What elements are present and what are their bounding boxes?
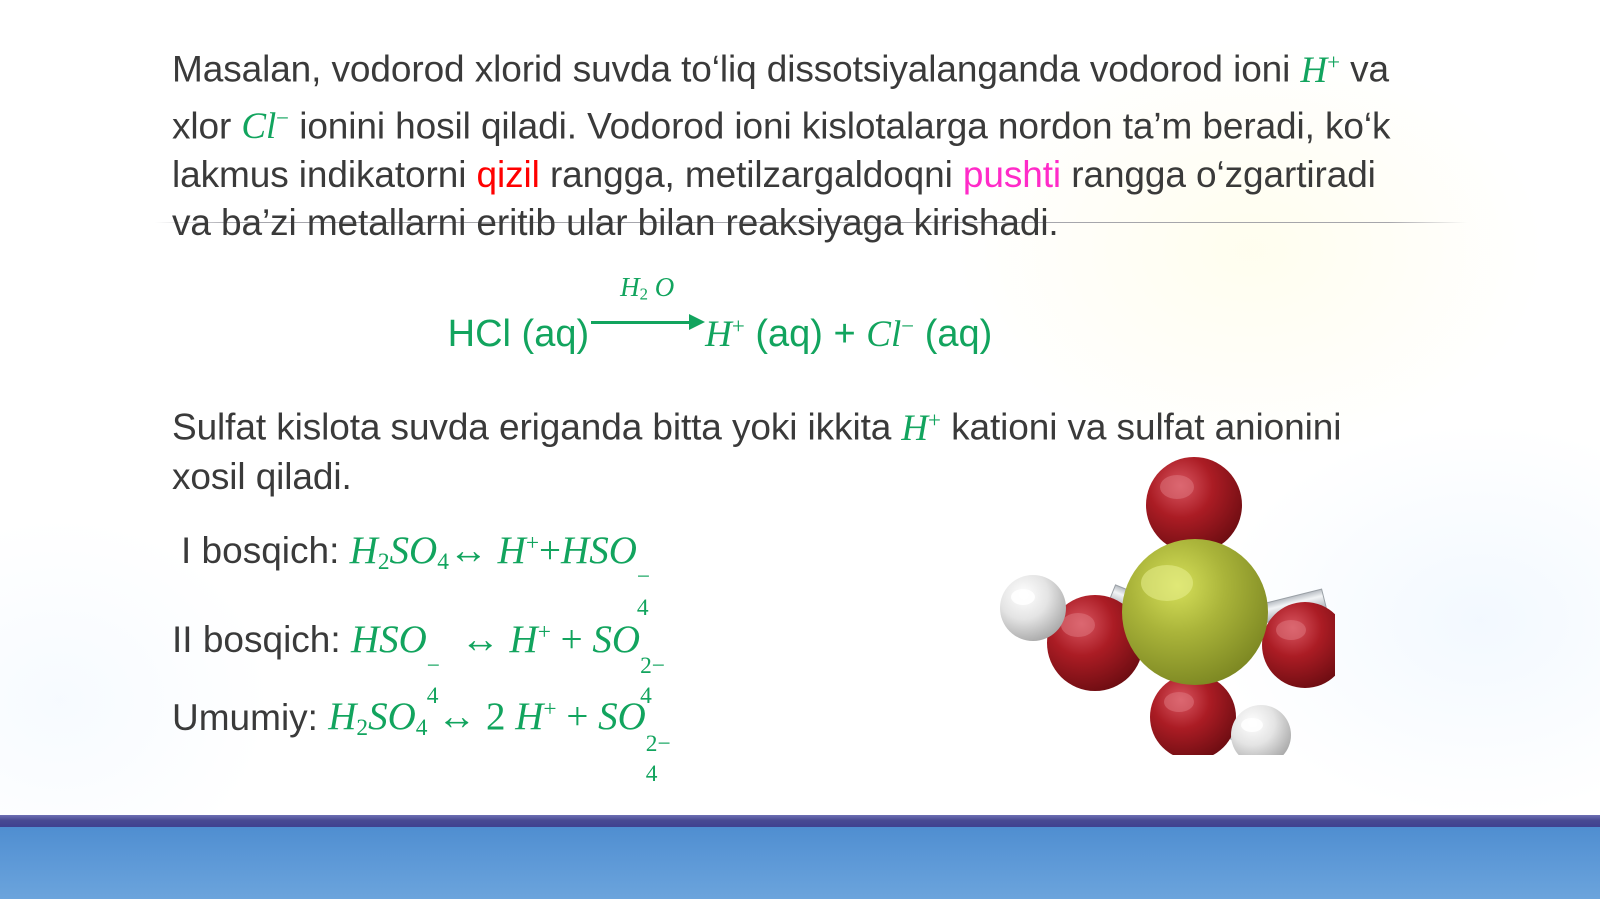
atom-hydrogen-upper-left-highlight [1011,589,1035,605]
intro-text-part-4: rangga, metilzargaldoqni [540,154,963,195]
product-symbol-h: H [705,314,732,355]
atom-sulfur-center [1122,539,1268,685]
step-3-reactant-h: H [328,695,356,738]
step-3-equation: H2SO4 ↔ 2 H+ + SO2−4 [328,695,660,738]
equation-state-aq-plus: (aq) + [745,313,866,355]
equation-state-aq-final: (aq) [914,313,992,355]
step-3-reactant-so: SO [368,695,416,738]
step-2-product-h-sup: + [538,619,551,645]
step-2-reactant-hso4: HSO [351,618,427,661]
step-2-equation: HSO−4 ↔ H+ + SO2−4 [351,618,655,661]
intro-paragraph-block: Masalan, vodorod xlorid suvda to‘liq dis… [172,38,1422,247]
condition-symbol-h: H [620,272,640,302]
step-1-reactant-so: SO [390,529,438,572]
step-1-reactant-h-sub: 2 [378,549,390,575]
chem-charge-minus: − [276,106,289,131]
step-2-label: II bosqich: [172,619,341,660]
chem-symbol-h: H [1300,50,1327,91]
atom-oxygen-top [1146,457,1242,553]
step-2-plus-sign: + [561,618,583,661]
atom-oxygen-bottom-highlight [1164,692,1194,712]
sulfate-text-part-1: Sulfat kislota suvda eriganda bitta yoki… [172,407,901,448]
reaction-arrow-group: H2 O [589,308,705,346]
sulfate-symbol-h: H [901,408,928,449]
step-1-reactant-so-sub: 4 [437,549,449,575]
step-2-reactant-hso4-sub: 4 [427,661,439,731]
product-charge-plus: + [732,313,745,338]
footer-stripe-blue [0,827,1600,899]
step-3-equilibrium-arrow-icon: ↔ [437,695,476,738]
step-row-3: Umumiy: H2SO4 ↔ 2 H+ + SO2−4 [172,675,660,764]
reaction-condition-water-label: H2 O [620,272,674,305]
dissociation-steps-list: I bosqich: H2SO4↔ H++HSO−4 II bosqich: H… [172,508,660,763]
condition-symbol-o: O [655,272,675,302]
atom-oxygen-bottom [1150,674,1236,755]
step-1-equation: H2SO4↔ H++HSO−4 [350,529,652,572]
equation-product-chloride-ion: Cl− [866,314,914,355]
chem-chloride-anion-inline: Cl− [241,106,289,147]
atom-oxygen-top-highlight [1160,475,1194,499]
product-charge-minus: − [901,313,914,338]
sulfuric-acid-molecule-image [955,455,1335,755]
atom-sulfur-highlight [1141,565,1193,601]
step-3-plus-sign: + [566,695,588,738]
step-3-product-so4: SO [598,695,646,738]
chem-symbol-cl: Cl [241,106,276,147]
atom-hydrogen-lower-right [1231,705,1291,755]
step-row-1: I bosqich: H2SO4↔ H++HSO−4 [172,508,660,597]
atom-oxygen-right-highlight [1276,620,1306,640]
step-3-label: Umumiy: [172,696,318,737]
highlight-word-pushti: pushti [963,154,1061,195]
step-3-coefficient: 2 [486,695,506,738]
condition-subscript-2: 2 [640,285,648,304]
chem-hydrogen-cation-sulfate: H+ [901,408,940,449]
step-3-product-h-sup: + [543,697,556,723]
step-1-reactant-h: H [350,529,378,572]
step-row-2: II bosqich: HSO−4 ↔ H+ + SO2−4 [172,597,660,675]
intro-paragraph: Masalan, vodorod xlorid suvda to‘liq dis… [172,38,1422,247]
step-1-product-h: H [498,529,526,572]
chem-charge-plus: + [1327,49,1340,74]
intro-text-part-1: Masalan, vodorod xlorid suvda to‘liq dis… [172,49,1300,90]
equation-hcl-dissociation: HCl (aq) H2 O H+ (aq) + Cl− (aq) [0,308,1440,356]
reaction-arrow-head-icon [689,314,705,330]
step-3-reactant-so-sub: 4 [416,715,428,741]
highlight-word-qizil: qizil [477,154,540,195]
step-1-plus-sign: + [539,529,561,572]
atom-oxygen-left-highlight [1061,613,1095,637]
chem-hydrogen-cation-inline: H+ [1300,50,1339,91]
reaction-arrow-shaft [591,321,695,324]
product-symbol-cl: Cl [866,314,901,355]
presentation-slide: Masalan, vodorod xlorid suvda to‘liq dis… [0,0,1600,899]
step-1-equilibrium-arrow-icon: ↔ [449,529,488,572]
step-3-product-h: H [515,695,543,738]
slide-footer-decoration [0,815,1600,899]
step-1-label: I bosqich: [181,530,339,571]
footer-stripe-dark [0,815,1600,827]
equation-product-hydrogen-ion: H+ [705,314,745,355]
step-3-product-so4-sub: 4 [646,739,658,809]
atom-hydrogen-lower-right-highlight [1241,718,1263,732]
step-2-product-so4: SO [592,618,640,661]
sulfate-charge-plus: + [928,407,941,432]
step-2-equilibrium-arrow-icon: ↔ [461,618,500,661]
step-2-product-h: H [510,618,538,661]
step-3-reactant-h-sub: 2 [356,715,368,741]
step-1-product-h-sup: + [526,530,539,556]
equation-reactant-hcl: HCl (aq) [448,313,589,355]
atom-hydrogen-upper-left [1000,575,1066,641]
step-1-product-hso4: HSO [561,529,637,572]
